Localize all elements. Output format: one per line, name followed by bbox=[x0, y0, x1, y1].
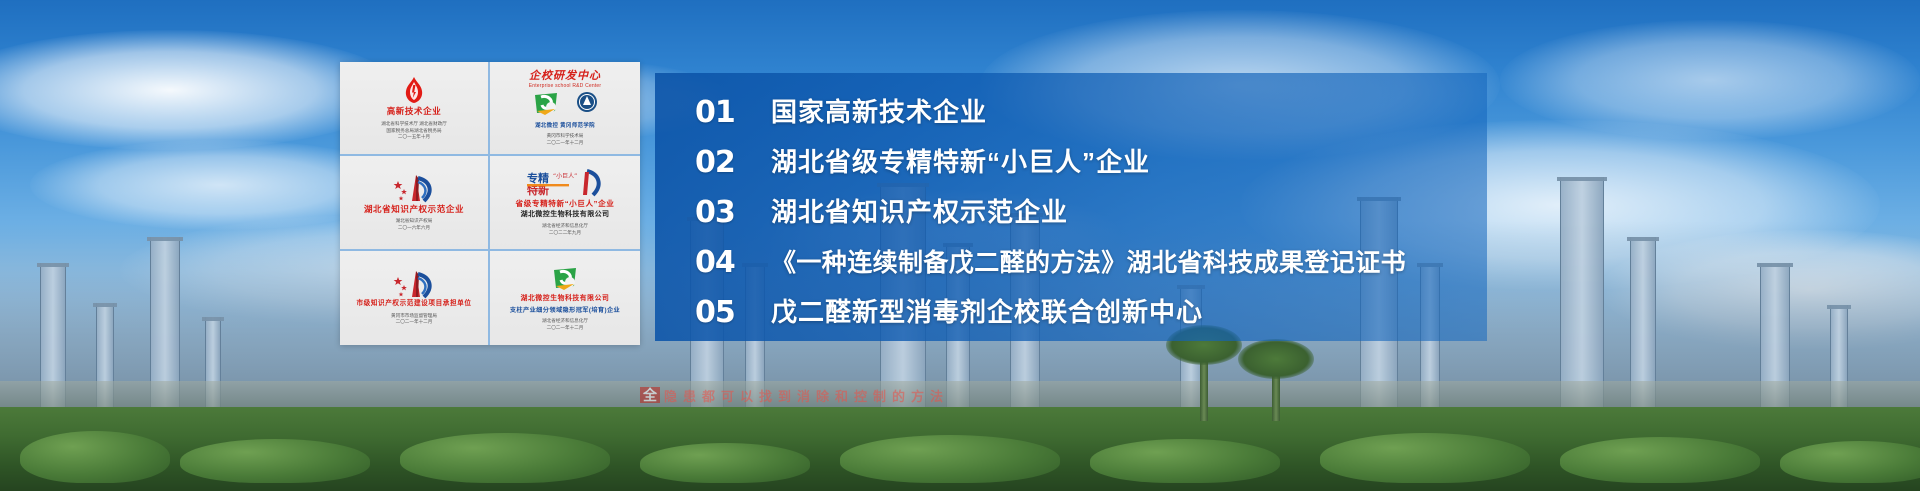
bush bbox=[1780, 441, 1920, 483]
bush bbox=[840, 435, 1060, 483]
list-item[interactable]: 05 戊二醛新型消毒剂企校联合创新中心 bbox=[695, 293, 1487, 333]
list-item-number: 01 bbox=[695, 98, 743, 128]
list-item-label: 湖北省级专精特新“小巨人”企业 bbox=[771, 148, 1150, 178]
hubei-weikong-logo-icon bbox=[550, 264, 580, 294]
safety-slogan-banner: 全 隐患都可以找到消除和控制的方法 bbox=[640, 382, 1060, 408]
list-item-number: 03 bbox=[695, 198, 743, 228]
bush bbox=[400, 433, 610, 483]
palm-tree bbox=[1272, 365, 1280, 421]
partner-logos bbox=[531, 89, 599, 119]
list-item[interactable]: 01 国家高新技术企业 bbox=[695, 93, 1487, 133]
ip-star-logo-icon bbox=[392, 269, 436, 299]
certificate-issuer: 黄冈市市场监督管理局 二〇二一年十二月 bbox=[391, 313, 437, 327]
achievements-panel: 01 国家高新技术企业 02 湖北省级专精特新“小巨人”企业 03 湖北省知识产… bbox=[655, 73, 1487, 341]
certificate-card[interactable]: 湖北微控生物科技有限公司 支柱产业细分领域隐形冠军(培育)企业 湖北省经济和信息… bbox=[490, 251, 640, 345]
list-item[interactable]: 03 湖北省知识产权示范企业 bbox=[695, 193, 1487, 233]
svg-text:“小巨人”: “小巨人” bbox=[553, 172, 577, 180]
plant-tower bbox=[1560, 177, 1604, 413]
list-item-number: 02 bbox=[695, 148, 743, 178]
list-item[interactable]: 02 湖北省级专精特新“小巨人”企业 bbox=[695, 143, 1487, 183]
certificate-title: 湖北省知识产权示范企业 bbox=[364, 204, 464, 215]
flame-logo-icon bbox=[401, 75, 427, 105]
certificate-card[interactable]: 企校研发中心 Enterprise school R&D Center 湖北微控… bbox=[490, 62, 640, 156]
list-item-number: 05 bbox=[695, 298, 743, 328]
certificate-title: 高新技术企业 bbox=[387, 106, 442, 117]
list-item-label: 国家高新技术企业 bbox=[771, 98, 987, 128]
certificate-card[interactable]: 湖北省知识产权示范企业 湖北省知识产权局 二〇一六年六月 bbox=[340, 156, 490, 250]
certificate-title: 省级专精特新“小巨人”企业 bbox=[516, 199, 615, 208]
achievements-list: 01 国家高新技术企业 02 湖北省级专精特新“小巨人”企业 03 湖北省知识产… bbox=[655, 73, 1487, 341]
list-item-label: 《一种连续制备戊二醛的方法》湖北省科技成果登记证书 bbox=[771, 249, 1406, 278]
certificate-sub: 湖北微控 黄冈师范学院 bbox=[535, 121, 595, 129]
list-item-label: 戊二醛新型消毒剂企校联合创新中心 bbox=[771, 298, 1203, 328]
list-item-label: 湖北省知识产权示范企业 bbox=[771, 198, 1068, 228]
cloud-shape bbox=[1500, 20, 1920, 140]
bush bbox=[180, 439, 370, 483]
bush bbox=[640, 443, 810, 483]
foliage-strip bbox=[0, 407, 1920, 491]
specialized-new-logo-icon: 专精 特新 “小巨人” bbox=[525, 168, 605, 198]
certificate-title: 企校研发中心 bbox=[529, 70, 601, 84]
certificate-sub: 湖北微控生物科技有限公司 bbox=[521, 209, 610, 219]
slogan-text: 隐患都可以找到消除和控制的方法 bbox=[664, 386, 949, 405]
certificate-issuer: 黄冈市科学技术局 二〇二一年十二月 bbox=[547, 133, 584, 147]
certificate-title: 湖北微控生物科技有限公司 bbox=[521, 295, 610, 303]
certificate-title: 市级知识产权示范建设项目承担单位 bbox=[356, 300, 471, 308]
certificate-issuer: 湖北省经济和信息化厅 二〇二二年九月 bbox=[542, 223, 588, 237]
bush bbox=[1320, 433, 1530, 483]
palm-tree bbox=[1200, 351, 1208, 421]
certificate-card[interactable]: 市级知识产权示范建设项目承担单位 黄冈市市场监督管理局 二〇二一年十二月 bbox=[340, 251, 490, 345]
list-item[interactable]: 04 《一种连续制备戊二醛的方法》湖北省科技成果登记证书 bbox=[695, 243, 1487, 283]
certificate-issuer: 湖北省科学技术厅 湖北省财政厅 国家税务总局湖北省税务局 二〇一五年十月 bbox=[381, 121, 447, 142]
list-item-number: 04 bbox=[695, 248, 743, 278]
svg-text:专精: 专精 bbox=[527, 171, 549, 185]
slogan-badge: 全 bbox=[640, 387, 660, 403]
ip-star-logo-icon bbox=[392, 173, 436, 203]
certificate-card[interactable]: 专精 特新 “小巨人” 省级专精特新“小巨人”企业 湖北微控生物科技有限公司 湖… bbox=[490, 156, 640, 250]
hero-banner: 高新技术企业 湖北省科学技术厅 湖北省财政厅 国家税务总局湖北省税务局 二〇一五… bbox=[0, 0, 1920, 491]
certificate-grid: 高新技术企业 湖北省科学技术厅 湖北省财政厅 国家税务总局湖北省税务局 二〇一五… bbox=[340, 62, 640, 345]
bush bbox=[20, 431, 170, 483]
bush bbox=[1560, 437, 1760, 483]
certificate-card[interactable]: 高新技术企业 湖北省科学技术厅 湖北省财政厅 国家税务总局湖北省税务局 二〇一五… bbox=[340, 62, 490, 156]
bush bbox=[1090, 439, 1280, 483]
certificate-sub: 支柱产业细分领域隐形冠军(培育)企业 bbox=[510, 305, 620, 314]
certificate-issuer: 湖北省知识产权局 二〇一六年六月 bbox=[396, 218, 433, 232]
certificate-issuer: 湖北省经济和信息化厅 二〇二一年十二月 bbox=[542, 318, 588, 332]
